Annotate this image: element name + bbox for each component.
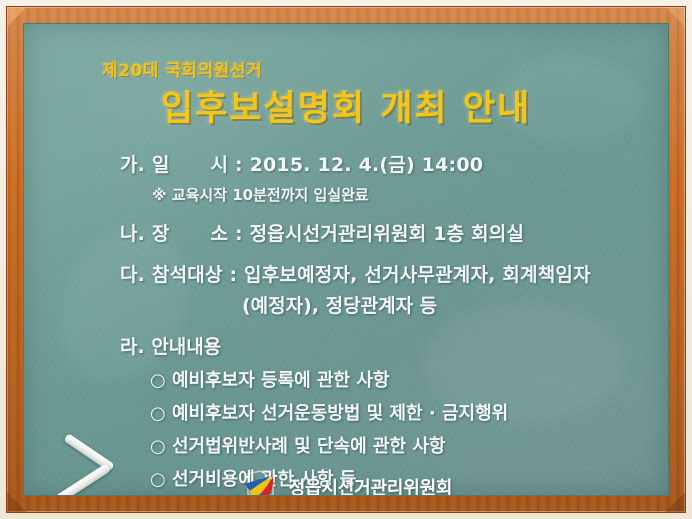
info-line-place: 나. 장 소 : 정읍시선거관리위원회 1층 회의실: [120, 219, 668, 246]
wooden-frame-icon: 제20대 국회의원선거 입후보설명회 개최 안내 가. 일 시 : 2015. …: [6, 6, 686, 513]
footer-logo-row: 정읍시선거관리위원회: [24, 470, 668, 496]
info-line-audience: 다. 참석대상 : 입후보예정자, 선거사무관계자, 회계책임자: [120, 260, 668, 287]
list-item: ○ 예비후보자 등록에 관한 사항: [150, 366, 668, 392]
poster-kicker: 제20대 국회의원선거: [102, 56, 262, 81]
list-item: ○ 예비후보자 선거운동방법 및 제한 · 금지행위: [150, 399, 668, 425]
poster-body: 가. 일 시 : 2015. 12. 4.(금) 14:00 ※ 교육시작 10…: [24, 136, 668, 496]
nec-bird-emblem-icon: [240, 470, 280, 496]
poster-root: 제20대 국회의원선거 입후보설명회 개최 안내 가. 일 시 : 2015. …: [0, 0, 692, 519]
page-title: 입후보설명회 개최 안내: [24, 80, 668, 131]
organization-name: 정읍시선거관리위원회: [289, 474, 453, 496]
info-line-note: ※ 교육시작 10분전까지 입실완료: [152, 184, 668, 205]
info-line-datetime: 가. 일 시 : 2015. 12. 4.(금) 14:00: [120, 150, 668, 177]
info-line-audience-cont: (예정자), 정당관계자 등: [242, 291, 668, 318]
list-item: ○ 선거법위반사례 및 단속에 관한 사항: [150, 432, 668, 458]
info-line-contents: 라. 안내내용: [120, 332, 668, 359]
chalkboard-icon: 제20대 국회의원선거 입후보설명회 개최 안내 가. 일 시 : 2015. …: [23, 23, 669, 496]
